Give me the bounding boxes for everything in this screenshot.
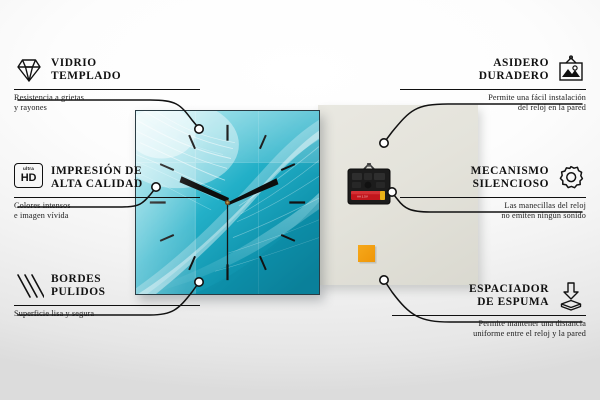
feature-vidrio-templado: VIDRIO TEMPLADO Resistencia a grietas y … — [14, 52, 200, 114]
gear-icon — [556, 163, 586, 193]
foam-spacer-icon — [556, 281, 586, 311]
feature-impresion-alta-calidad: ultra HD IMPRESIÓN DE ALTA CALIDAD Color… — [14, 160, 200, 222]
ultra-hd-icon: ultra HD — [14, 163, 44, 193]
hanging-frame-icon — [556, 55, 586, 85]
feature-description: Permite mantener una distancia uniforme … — [392, 316, 586, 340]
feature-heading: ESPACIADOR DE ESPUMA — [392, 278, 586, 314]
feature-description: Colores intensos e imagen vívida — [14, 198, 200, 222]
diamond-icon — [14, 55, 44, 85]
feature-description: Superficie lisa y segura — [14, 306, 200, 319]
feature-heading: BORDES PULIDOS — [14, 268, 200, 304]
foam-spacer-sample — [358, 245, 375, 262]
feature-title: ASIDERO DURADERO — [479, 57, 549, 84]
feature-asidero-duradero: ASIDERO DURADERO Permite una fácil insta… — [400, 52, 586, 114]
svg-text:AA 1.5V: AA 1.5V — [357, 195, 368, 199]
feature-description: Resistencia a grietas y rayones — [14, 90, 200, 114]
feature-bordes-pulidos: BORDES PULIDOS Superficie lisa y segura — [14, 268, 200, 319]
feature-title: VIDRIO TEMPLADO — [51, 57, 121, 84]
feature-heading: ASIDERO DURADERO — [400, 52, 586, 88]
feature-heading: ultra HD IMPRESIÓN DE ALTA CALIDAD — [14, 160, 200, 196]
feature-heading: VIDRIO TEMPLADO — [14, 52, 200, 88]
polished-edges-icon — [14, 271, 44, 301]
feature-heading: MECANISMO SILENCIOSO — [400, 160, 586, 196]
feature-title: IMPRESIÓN DE ALTA CALIDAD — [51, 165, 143, 192]
feature-mecanismo-silencioso: MECANISMO SILENCIOSO Las manecillas del … — [400, 160, 586, 222]
feature-title: MECANISMO SILENCIOSO — [471, 165, 549, 192]
feature-espaciador-de-espuma: ESPACIADOR DE ESPUMA Permite mantener un… — [392, 278, 586, 340]
clock-mechanism: AA 1.5V — [346, 163, 392, 207]
feature-title: BORDES PULIDOS — [51, 273, 106, 300]
feature-title: ESPACIADOR DE ESPUMA — [469, 283, 549, 310]
feature-description: Permite una fácil instalación del reloj … — [400, 90, 586, 114]
feature-description: Las manecillas del reloj no emiten ningú… — [400, 198, 586, 222]
